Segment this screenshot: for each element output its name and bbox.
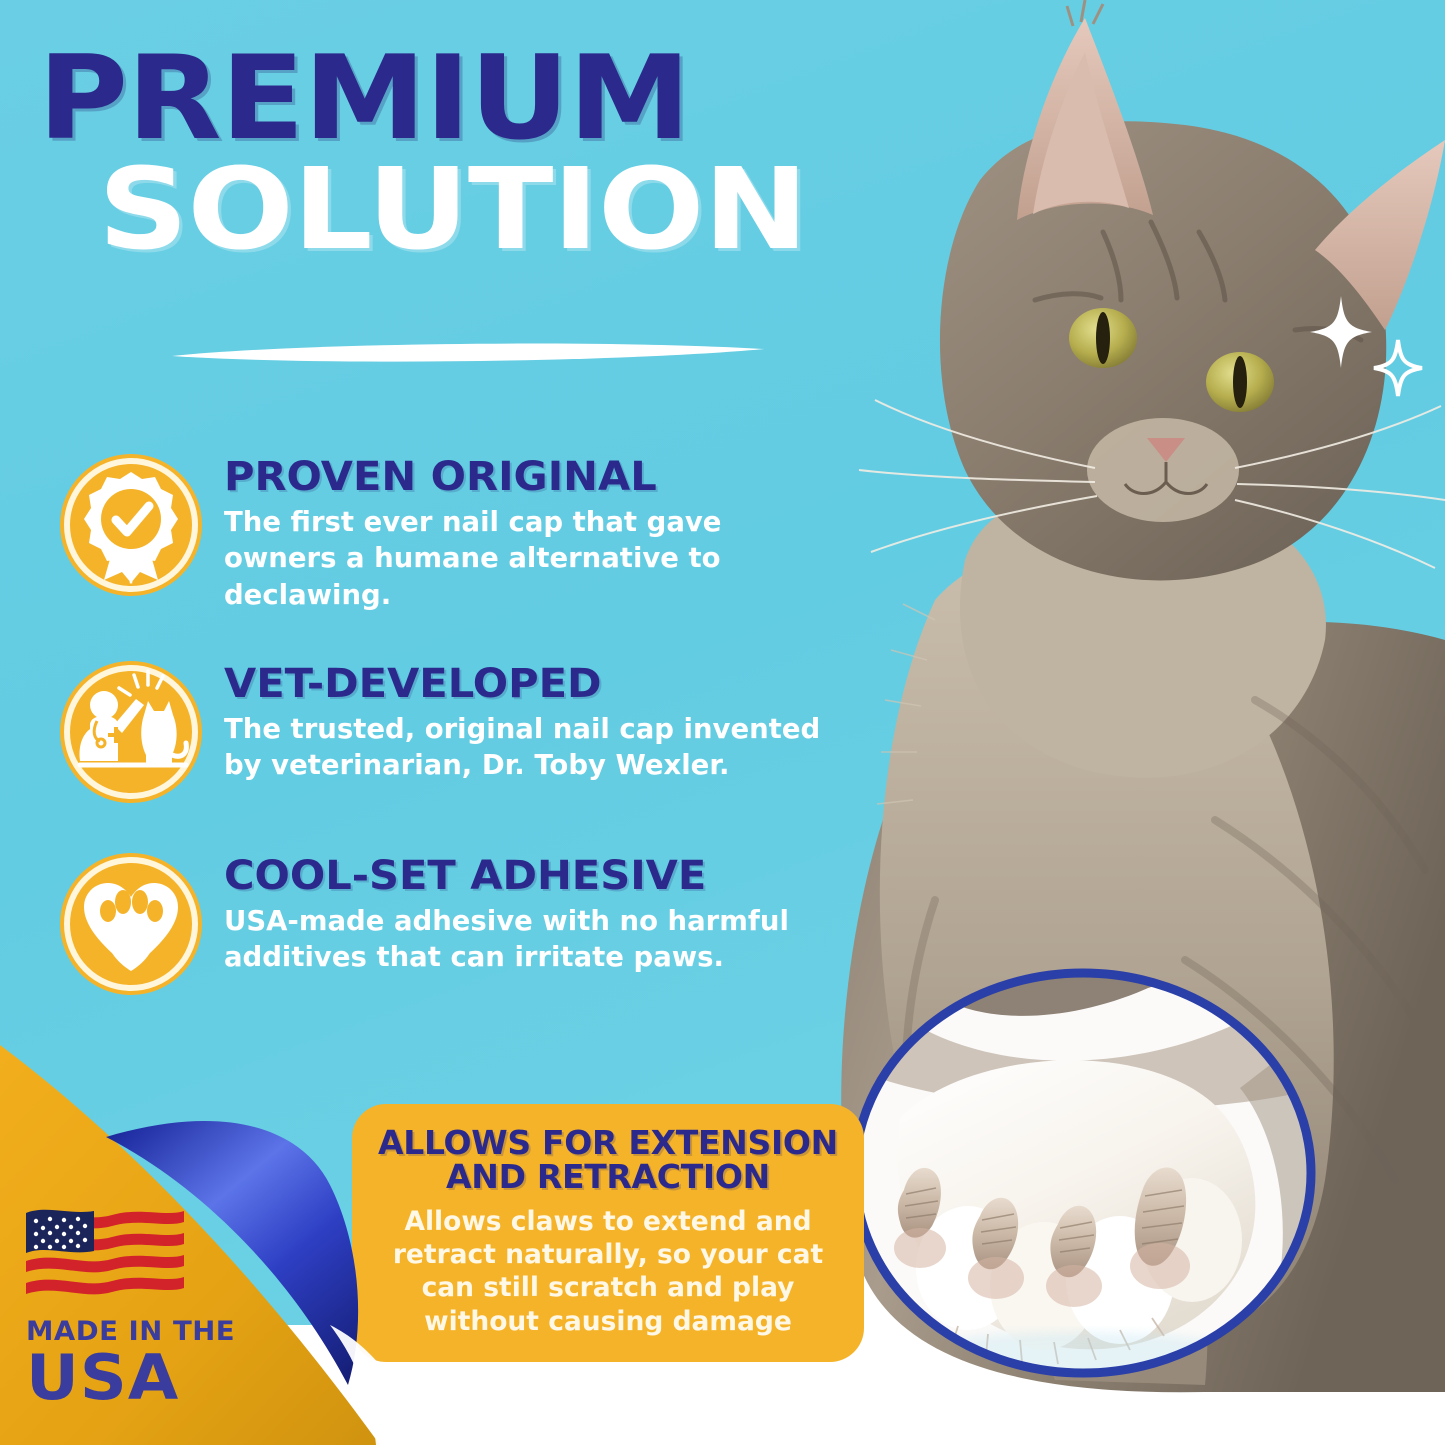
feature-body: The first ever nail cap that gave owners… — [224, 504, 824, 613]
product-infographic-poster: PREMIUM SOLUTION PROVEN ORIGINAL The fir… — [0, 0, 1445, 1445]
feature-title: PROVEN ORIGINAL — [224, 454, 871, 500]
headline-block: PREMIUM SOLUTION — [38, 46, 838, 262]
usa-badge-line-2: USA — [26, 1347, 268, 1409]
feature-body: USA-made adhesive with no harmful additi… — [224, 903, 824, 976]
feature-title: VET-DEVELOPED — [224, 661, 871, 707]
sparkle-star-outline-icon — [1372, 338, 1424, 398]
heart-paw-print-icon — [56, 849, 206, 999]
feature-body: The trusted, original nail cap invented … — [224, 711, 824, 784]
sparkle-star-filled-icon — [1310, 296, 1372, 368]
headline-line-1: PREMIUM — [38, 46, 886, 153]
made-in-usa-badge: MADE IN THE USA — [26, 1203, 256, 1409]
feature-title: COOL-SET ADHESIVE — [224, 853, 871, 899]
award-ribbon-check-icon — [56, 450, 206, 600]
feature-text-block: VET-DEVELOPED The trusted, original nail… — [224, 655, 846, 784]
feature-item-cool-set-adhesive: COOL-SET ADHESIVE USA-made adhesive with… — [56, 847, 846, 997]
vet-high-five-cat-icon — [56, 657, 206, 807]
cat-paw-nail-caps-inset — [848, 968, 1318, 1378]
feature-text-block: COOL-SET ADHESIVE USA-made adhesive with… — [224, 847, 846, 976]
feature-text-block: PROVEN ORIGINAL The first ever nail cap … — [224, 448, 846, 613]
feature-item-vet-developed: VET-DEVELOPED The trusted, original nail… — [56, 655, 846, 805]
headline-underline-swoosh — [172, 340, 764, 366]
feature-item-proven-original: PROVEN ORIGINAL The first ever nail cap … — [56, 448, 846, 613]
feature-list: PROVEN ORIGINAL The first ever nail cap … — [56, 448, 846, 1039]
callout-title-line-2: AND RETRACTION — [446, 1157, 770, 1196]
us-flag-icon — [26, 1203, 186, 1298]
